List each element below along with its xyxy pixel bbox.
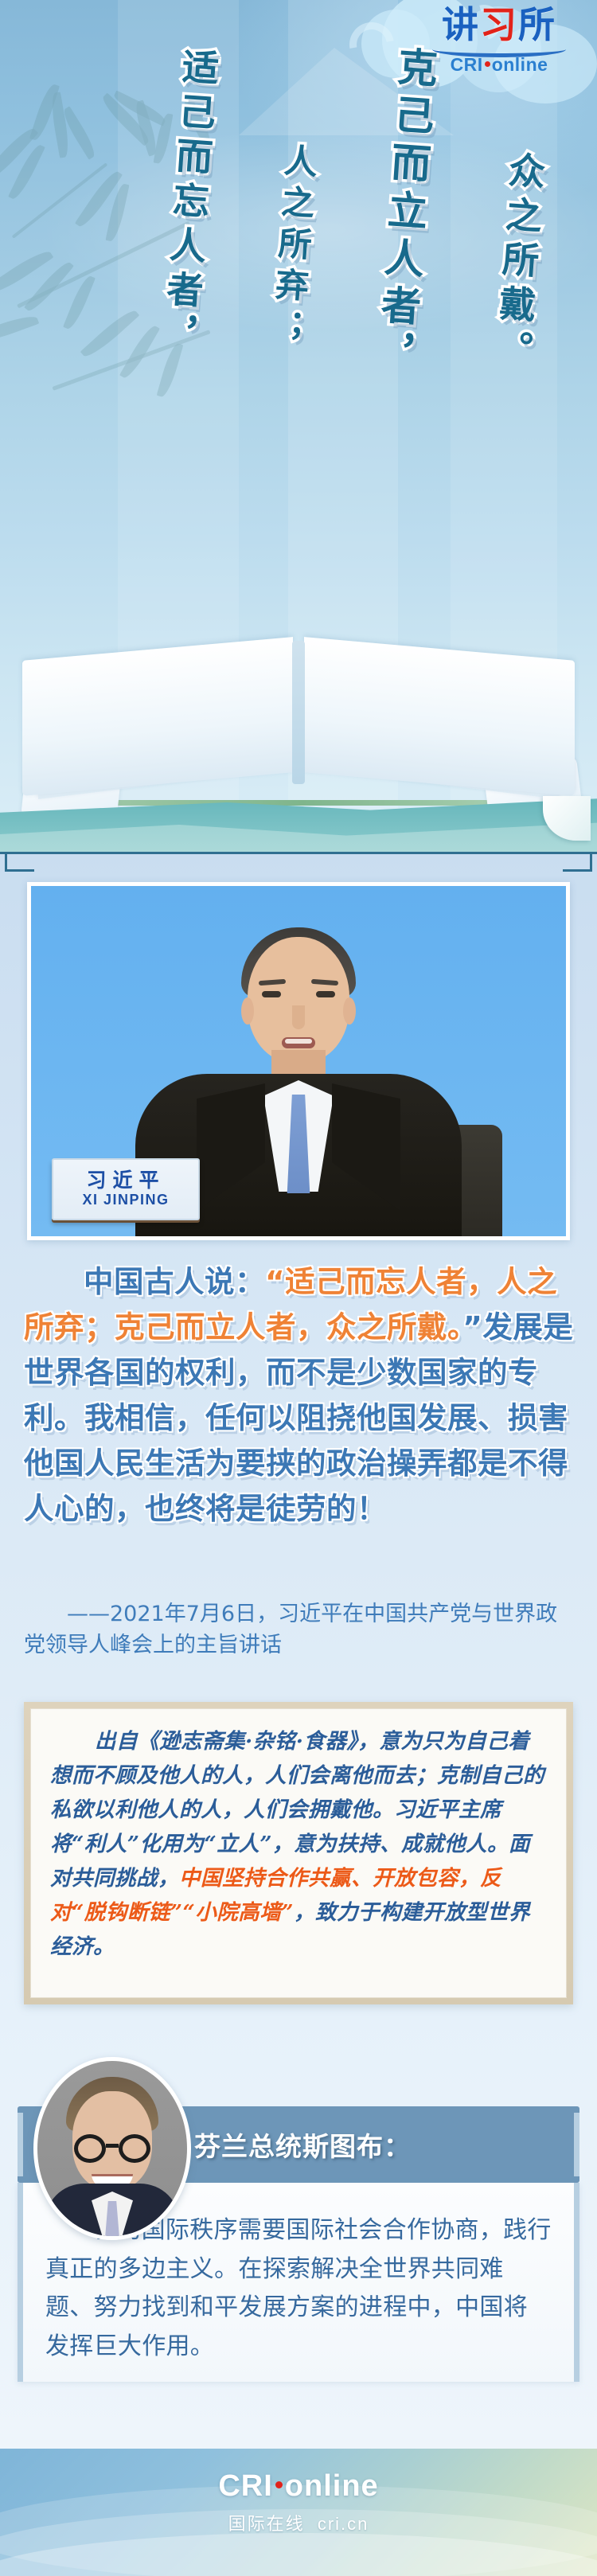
avatar-glasses-left <box>74 2134 106 2163</box>
logo-sub-cri: CRI <box>451 54 483 75</box>
footer-sub-cn: 国际在线 <box>228 2514 305 2534</box>
infographic-page: 讲习所 CRIonline 适己而忘人者， 人之所弃； 克己而立人者， 众之所戴… <box>0 0 597 2576</box>
quote-close-mark: ” <box>462 1309 482 1345</box>
portrait-ear <box>343 997 356 1025</box>
nameplate-english: XI JINPING <box>82 1192 169 1208</box>
logo-char-xi: 习 <box>480 4 518 45</box>
logo-char-jiang: 讲 <box>442 4 480 45</box>
nameplate: 习近平 XI JINPING <box>52 1158 200 1220</box>
footer-logo[interactable]: CRIonline 国际在线 cri.cn <box>0 2469 597 2535</box>
logo-char-suo: 所 <box>518 4 556 45</box>
explanation-text: 出自《逊志斋集·杂铭·食器》，意为只为自己着想而不顾及他人的人，人们会离他而去；… <box>50 1725 547 1964</box>
avatar-glasses-right <box>119 2134 150 2163</box>
quote-lead: 中国古人说： <box>84 1264 265 1299</box>
avatar-glasses-bridge <box>106 2144 119 2148</box>
book-shelf-line <box>96 800 509 806</box>
open-book-illustration <box>0 482 597 816</box>
logo-sub-online: online <box>492 54 548 75</box>
footer-logo-dot-icon <box>275 2481 283 2488</box>
main-quote: 中国古人说：“适己而忘人者，人之所弃；克己而立人者，众之所戴。”发展是世界各国的… <box>24 1259 576 1532</box>
portrait-eye <box>316 991 335 997</box>
explanation-card: 出自《逊志斋集·杂铭·食器》，意为只为自己着想而不顾及他人的人，人们会离他而去；… <box>24 1702 573 2004</box>
footer-sub-url: cri.cn <box>318 2514 369 2534</box>
quote-open-mark: “ <box>265 1264 285 1299</box>
footer-logo-title: CRIonline <box>0 2469 597 2504</box>
hero-section: 讲习所 CRIonline 适己而忘人者， 人之所弃； 克己而立人者， 众之所戴… <box>0 0 597 816</box>
speaker-avatar <box>33 2057 191 2240</box>
footer-logo-online: online <box>285 2469 379 2503</box>
portrait-nose <box>292 1005 305 1029</box>
quote-attribution: ——2021年7月6日，习近平在中国共产党与世界政党领导人峰会上的主旨讲话 <box>24 1598 576 1661</box>
ornamental-frame-top <box>0 852 597 872</box>
content-section: 习近平 XI JINPING 中国古人说：“适己而忘人者，人之所弃；克己而立人者… <box>0 852 597 2449</box>
explanation-card-inner: 出自《逊志斋集·杂铭·食器》，意为只为自己着想而不顾及他人的人，人们会离他而去；… <box>30 1708 567 1998</box>
portrait-ear <box>241 997 254 1025</box>
book-page-left <box>22 637 293 796</box>
cri-logo[interactable]: 讲习所 CRIonline <box>416 6 583 76</box>
xi-portrait-photo: 习近平 XI JINPING <box>31 886 566 1236</box>
book-page-right <box>304 637 575 796</box>
portrait-mouth <box>282 1037 315 1048</box>
book-spine <box>292 641 305 784</box>
nameplate-chinese: 习近平 <box>86 1170 165 1192</box>
logo-title: 讲习所 <box>416 6 583 43</box>
portrait-eye <box>262 991 281 997</box>
logo-subtitle: CRIonline <box>416 54 583 76</box>
footer-subtitle: 国际在线 cri.cn <box>0 2510 597 2535</box>
logo-dot-icon <box>485 61 490 67</box>
footer-logo-cri: CRI <box>218 2469 272 2503</box>
speaker-name-label: 芬兰总统斯图布： <box>194 2125 411 2164</box>
footer-section: CRIonline 国际在线 cri.cn <box>0 2449 597 2576</box>
xi-portrait-card: 习近平 XI JINPING <box>27 882 570 1240</box>
